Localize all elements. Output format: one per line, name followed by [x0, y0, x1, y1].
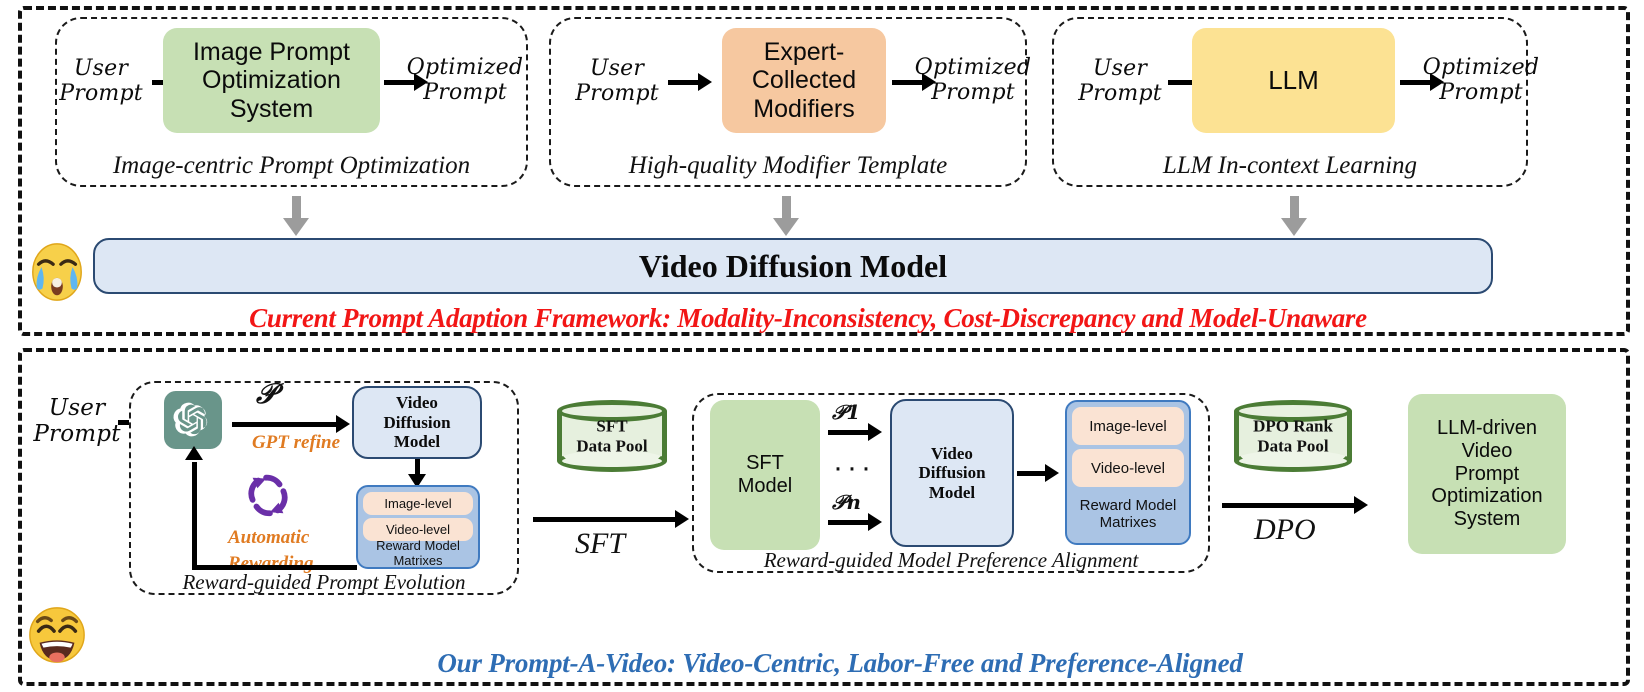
dpo-rank-data-pool-cylinder: DPO RankData Pool	[1234, 400, 1352, 472]
diagram-canvas: UserPrompt Image PromptOptimizationSyste…	[0, 0, 1644, 692]
feedback-arrow-head	[185, 446, 203, 460]
top-banner-caption: Current Prompt Adaption Framework: Modal…	[93, 303, 1523, 334]
llm-driven-video-prompt-optimization-system: LLM-drivenVideoPromptOptimizationSystem	[1408, 394, 1566, 554]
sft-model-box: SFTModel	[710, 400, 820, 550]
output-label-1: OptimizedPrompt	[404, 56, 526, 105]
sft-data-pool-cylinder: SFTData Pool	[557, 400, 667, 472]
prompt-symbol-pn: 𝒫n	[832, 490, 861, 514]
prompt-symbol-p: 𝒫	[256, 377, 276, 411]
bottom-banner-caption: Our Prompt-A-Video: Video-Centric, Labor…	[250, 648, 1430, 679]
reward-matrix-title-1: Reward Model Matrixes	[363, 544, 473, 563]
automatic-label: Automatic	[228, 527, 308, 549]
video-diffusion-model-bar: Video Diffusion Model	[93, 238, 1493, 294]
reward-matrix-title-2: Reward ModelMatrixes	[1072, 491, 1184, 538]
box-image-prompt-optimization-system: Image PromptOptimizationSystem	[163, 28, 380, 133]
caption-reward-guided-prompt-evolution: Reward-guided Prompt Evolution	[129, 570, 519, 595]
caption-image-centric: Image-centric Prompt Optimization	[55, 152, 528, 180]
box-expert-collected-modifiers: Expert-CollectedModifiers	[722, 28, 886, 133]
reward-cell-video-level-2: Video-level	[1072, 449, 1184, 487]
grinning-squinting-face-emoji	[26, 604, 88, 666]
output-label-2: OptimizedPrompt	[912, 56, 1034, 105]
feedback-loop-left-segment	[192, 462, 197, 567]
input-label-3: UserPrompt	[1073, 57, 1167, 106]
stage1-reward-model-matrixes: Image-level Video-level Reward Model Mat…	[356, 485, 480, 569]
box-llm: LLM	[1192, 28, 1395, 133]
dpo-step-label: DPO	[1254, 513, 1316, 547]
sft-step-label: SFT	[575, 527, 625, 561]
prompt-symbol-p1: 𝒫1	[832, 400, 860, 424]
caption-modifier-template: High-quality Modifier Template	[549, 152, 1027, 180]
caption-llm-in-context: LLM In-context Learning	[1052, 152, 1528, 180]
prompt-ellipsis: ···	[833, 453, 875, 483]
input-label-1: UserPrompt	[56, 57, 146, 106]
gpt-refine-label: GPT refine	[236, 432, 356, 454]
caption-reward-guided-alignment: Reward-guided Model Preference Alignment	[692, 548, 1210, 573]
reward-cell-image-level: Image-level	[363, 492, 473, 515]
stage1-video-diffusion-model: VideoDiffusionModel	[352, 386, 482, 459]
output-label-3: OptimizedPrompt	[1420, 56, 1542, 105]
crying-face-emoji	[26, 241, 88, 303]
bottom-input-label: UserPrompt	[24, 396, 130, 448]
dpo-data-pool-label: DPO RankData Pool	[1234, 416, 1352, 455]
reward-cell-image-level-2: Image-level	[1072, 407, 1184, 445]
input-label-2: UserPrompt	[570, 57, 664, 106]
sft-data-pool-label: SFTData Pool	[557, 416, 667, 455]
stage2-video-diffusion-model: VideoDiffusionModel	[890, 399, 1014, 547]
stage2-reward-model-matrixes: Image-level Video-level Reward ModelMatr…	[1065, 400, 1191, 545]
openai-logo-icon	[164, 391, 222, 449]
recycle-loop-icon	[241, 470, 295, 520]
